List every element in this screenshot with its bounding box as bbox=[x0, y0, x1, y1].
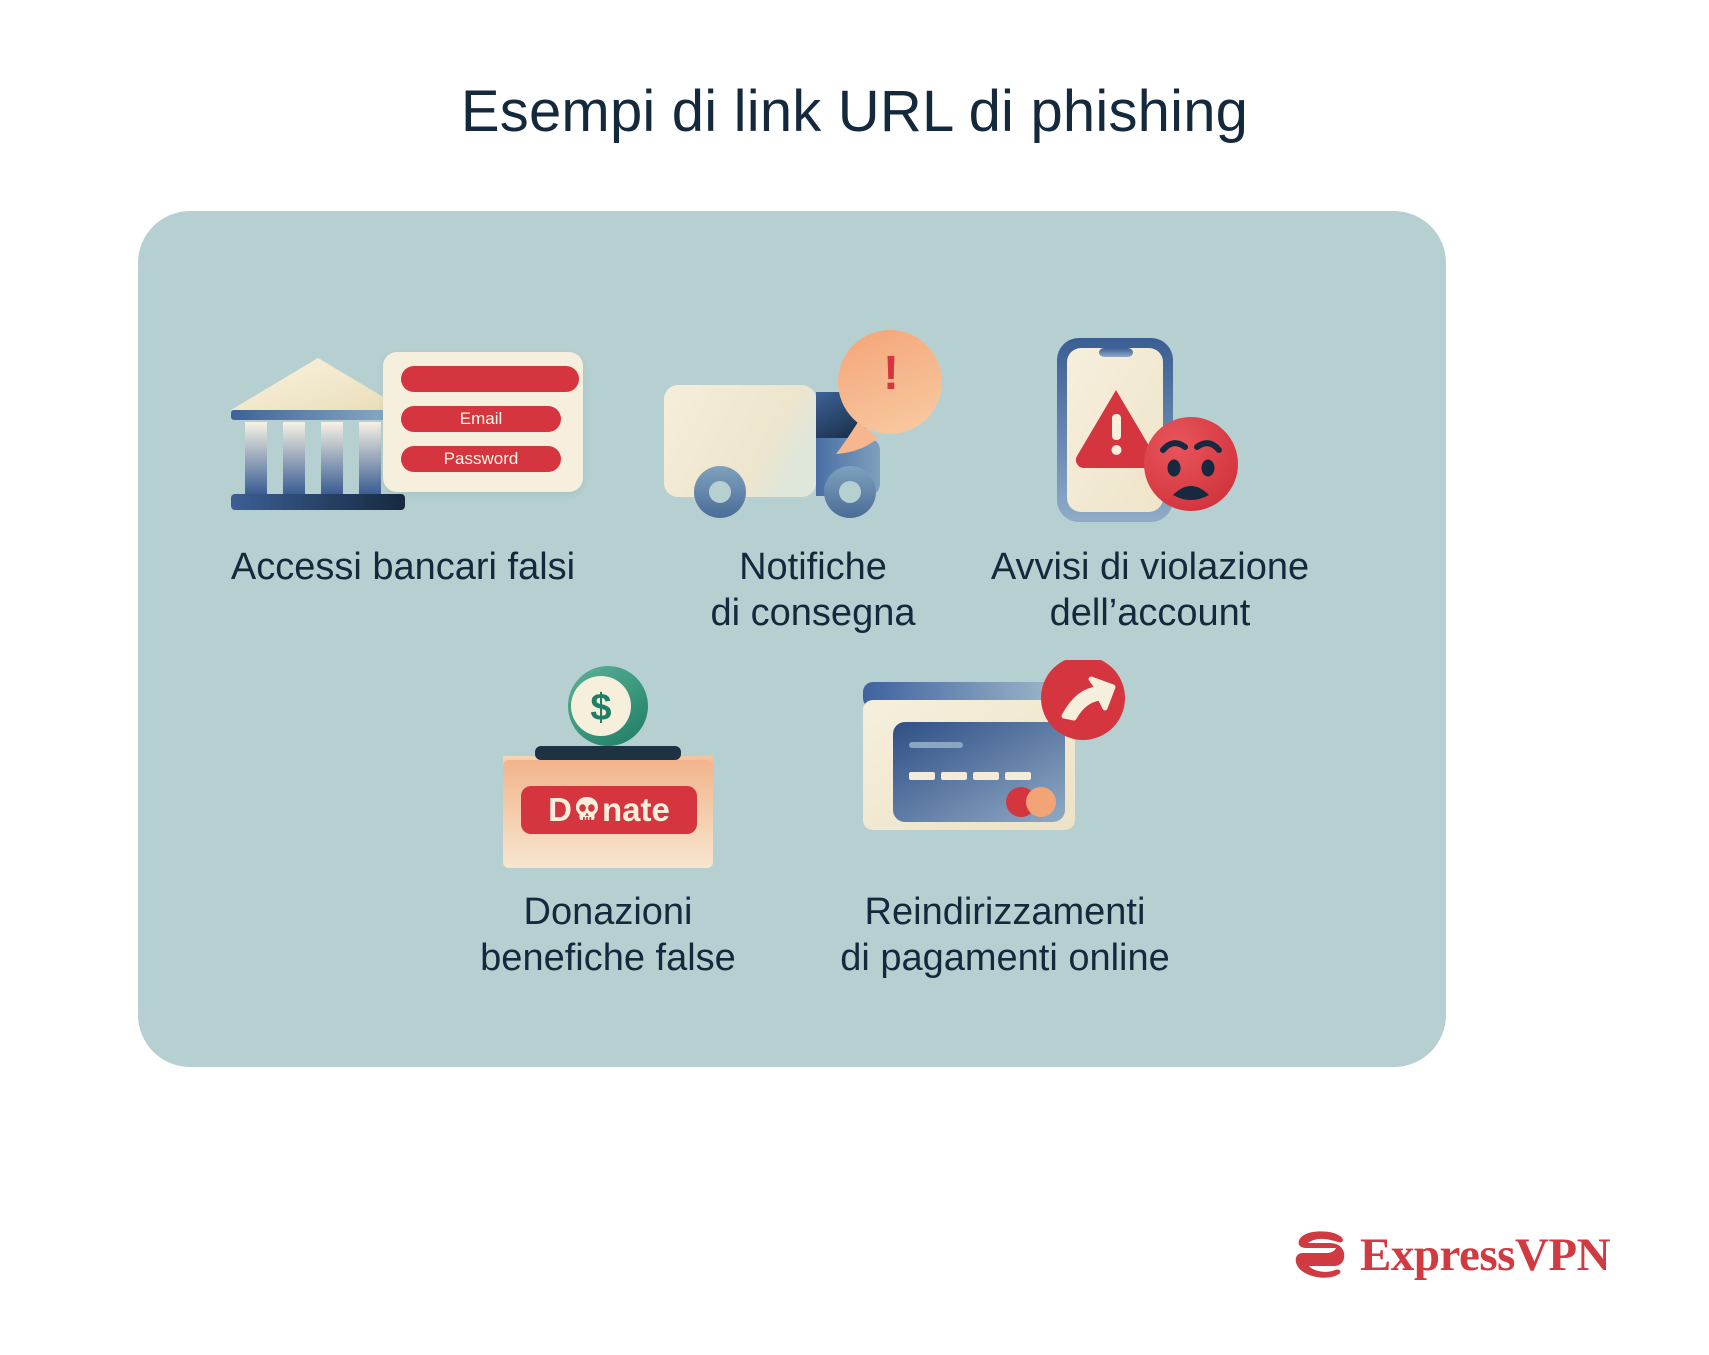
donate-label-after: nate bbox=[602, 791, 670, 829]
phone-warning-sad-face-icon bbox=[995, 330, 1305, 530]
browser-credit-card-redirect-icon bbox=[855, 660, 1155, 875]
card-account-breach-alerts: Avvisi di violazione dell’account bbox=[960, 330, 1340, 636]
email-field[interactable]: Email bbox=[401, 406, 561, 432]
card-caption: Accessi bancari falsi bbox=[168, 544, 638, 590]
skull-icon bbox=[574, 796, 600, 823]
card-online-payment-redirects: Reindirizzamenti di pagamenti online bbox=[790, 660, 1220, 981]
truck-svg bbox=[658, 330, 968, 520]
expressvpn-logo-text: ExpressVPN bbox=[1360, 1228, 1610, 1282]
password-field[interactable]: Password bbox=[401, 446, 561, 472]
card-caption: Avvisi di violazione dell’account bbox=[960, 544, 1340, 636]
delivery-truck-alert-icon: ! bbox=[658, 330, 968, 520]
donation-box-svg: $ bbox=[473, 660, 743, 875]
donation-box-skull-icon: $ D nate bbox=[473, 660, 743, 875]
card-fake-bank-logins: Email Password Accessi bancari falsi bbox=[168, 330, 638, 590]
expressvpn-e-mark-icon bbox=[1294, 1230, 1346, 1280]
browser-card-svg bbox=[855, 660, 1155, 875]
donate-label-before: D bbox=[548, 791, 572, 829]
svg-text:$: $ bbox=[590, 687, 611, 729]
card-caption: Notifiche di consegna bbox=[648, 544, 978, 636]
login-form-card: Email Password bbox=[383, 352, 583, 492]
phone-svg bbox=[995, 330, 1305, 530]
form-top-bar bbox=[401, 366, 579, 392]
card-caption: Donazioni benefiche false bbox=[438, 889, 778, 981]
alert-exclamation-icon: ! bbox=[880, 350, 902, 398]
card-caption: Reindirizzamenti di pagamenti online bbox=[790, 889, 1220, 981]
card-delivery-notifications: ! Notifiche di consegna bbox=[648, 330, 978, 636]
page-title: Esempi di link URL di phishing bbox=[0, 78, 1709, 145]
expressvpn-logo: ExpressVPN bbox=[1294, 1228, 1610, 1282]
card-fake-charity-donations: $ D nate Donazioni benefiche false bbox=[438, 660, 778, 981]
bank-login-form-icon: Email Password bbox=[223, 330, 583, 520]
